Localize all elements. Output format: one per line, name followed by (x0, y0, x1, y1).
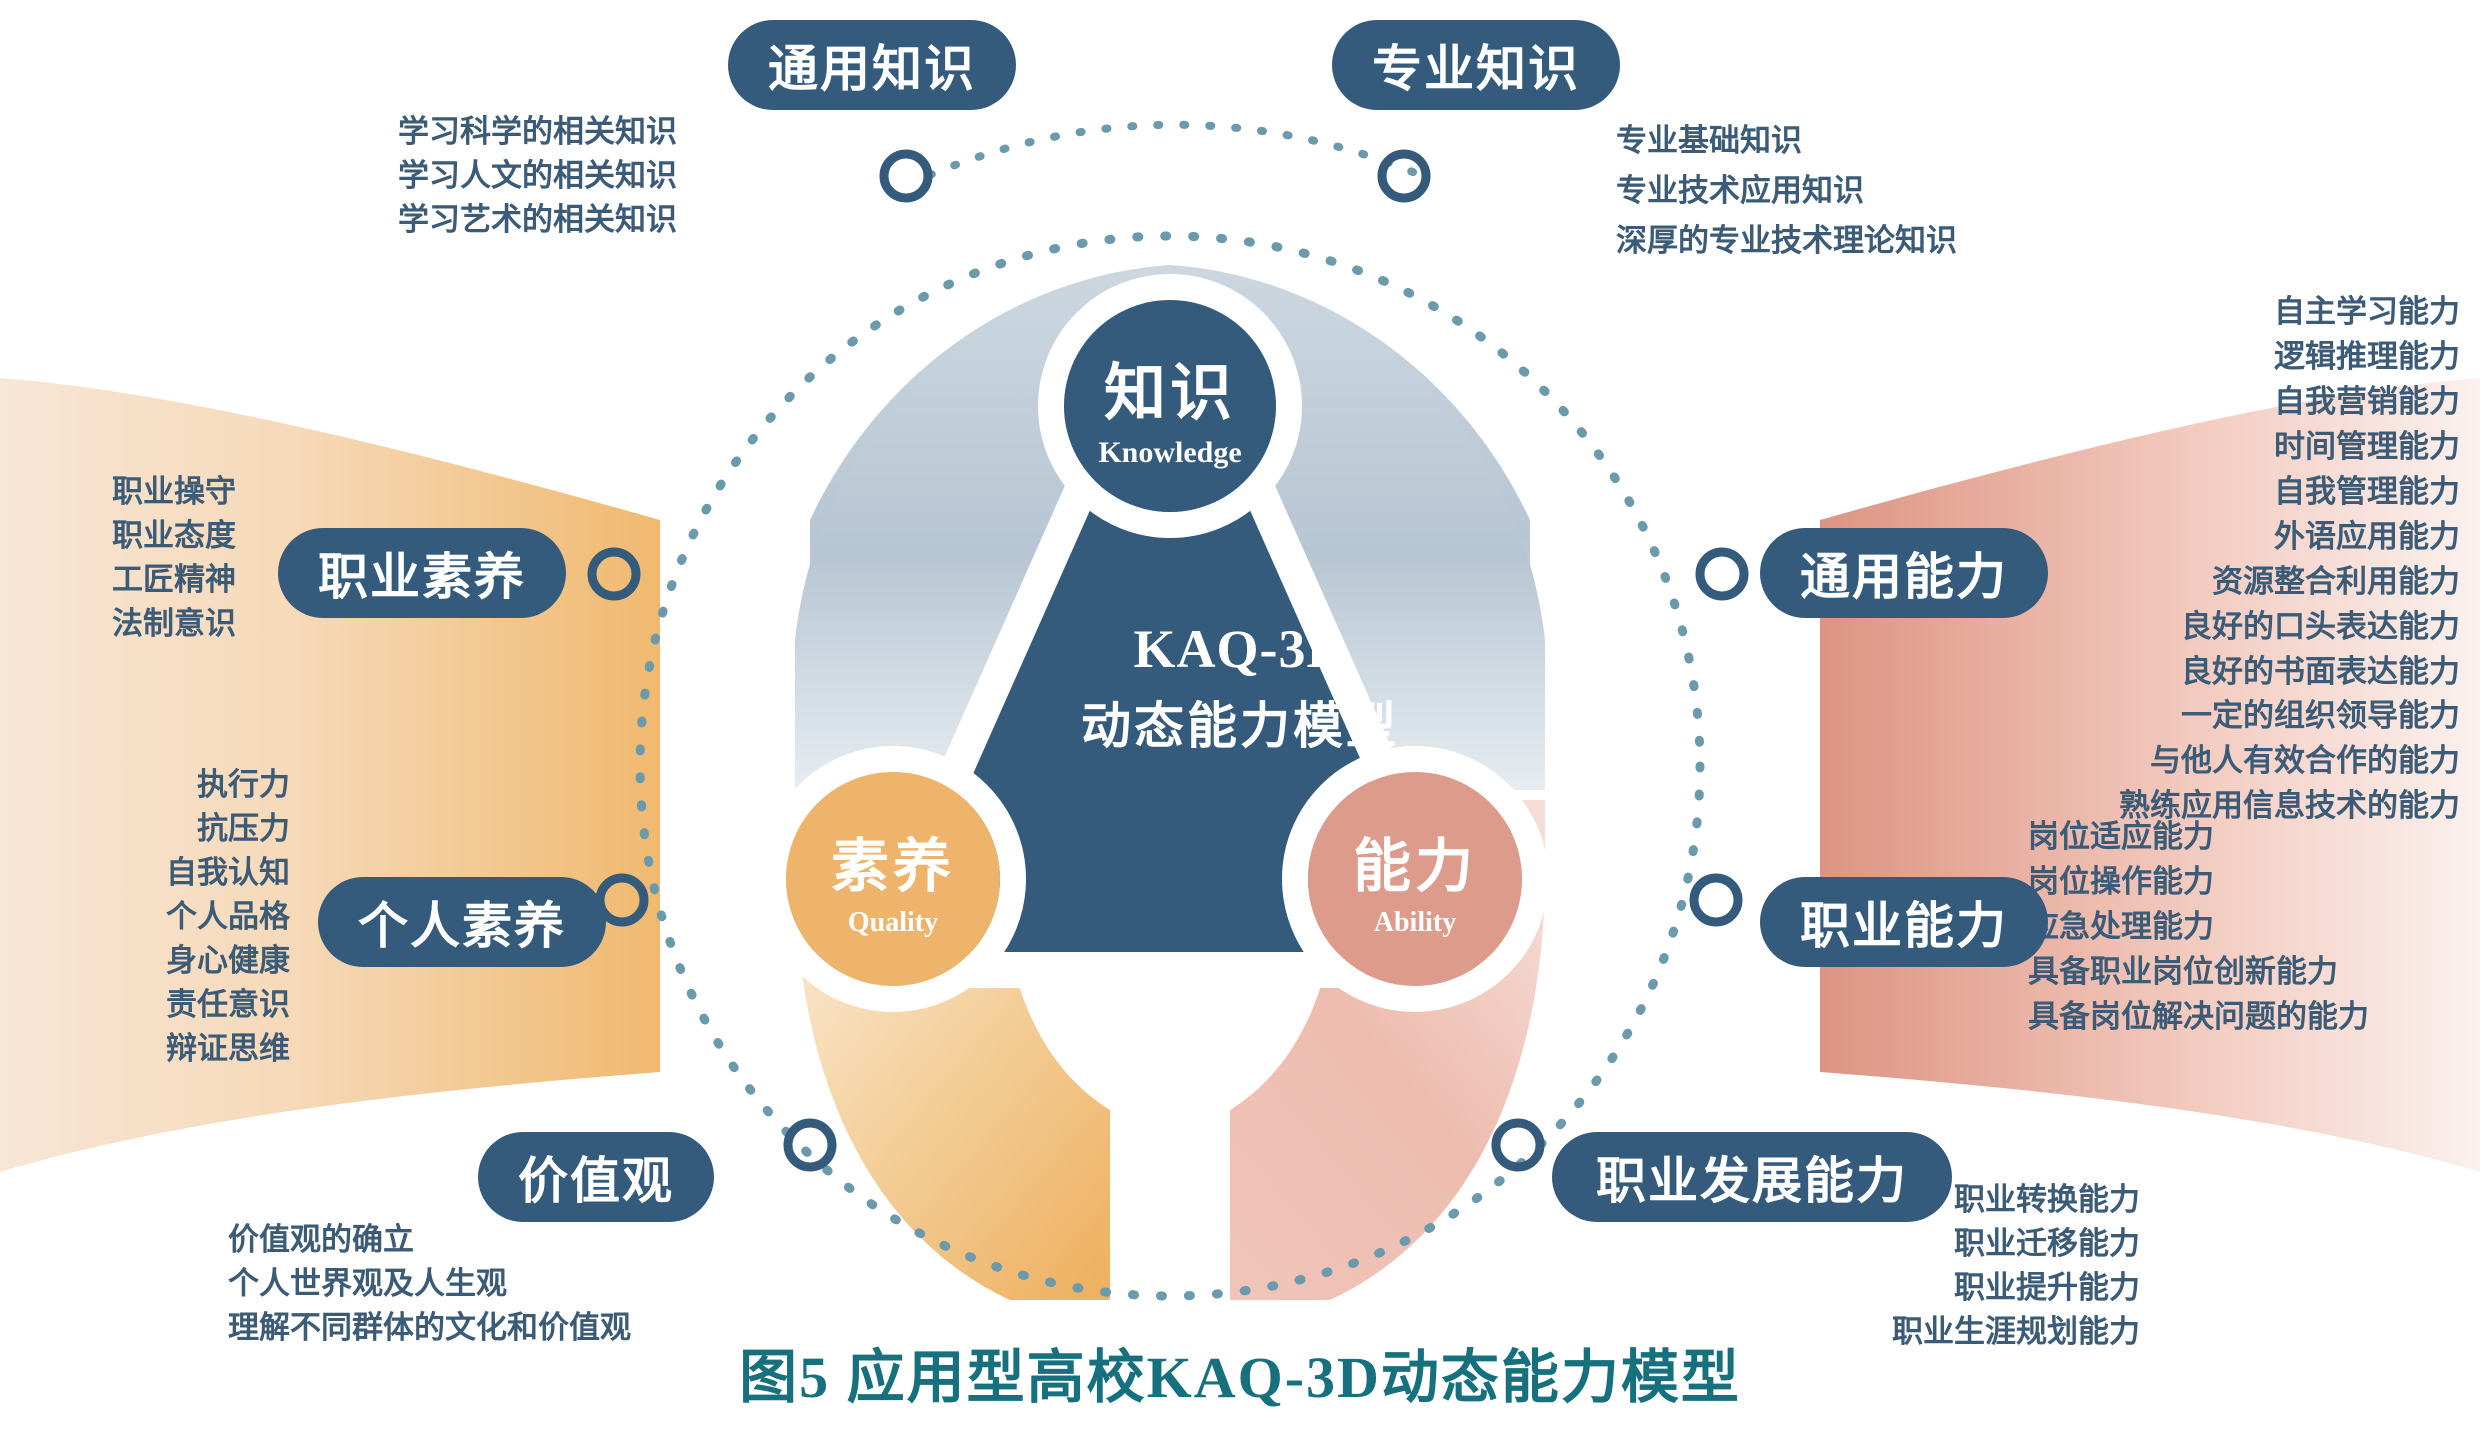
list-item: 责任意识 (0, 983, 290, 1027)
list-item: 专业技术应用知识 (1616, 166, 1957, 216)
list-personal-quality: 执行力 抗压力 自我认知 个人品格 身心健康 责任意识 辩证思维 (0, 763, 290, 1071)
list-item: 一定的组织领导能力 (1870, 694, 2460, 739)
label-vocational-ability[interactable]: 职业能力 (1760, 877, 2048, 967)
list-item: 学习人文的相关知识 (398, 154, 677, 198)
list-item: 自我营销能力 (1870, 380, 2460, 425)
list-item: 身心健康 (0, 939, 290, 983)
list-item: 逻辑推理能力 (1870, 335, 2460, 380)
list-item: 自主学习能力 (1870, 290, 2460, 335)
connector-dots (930, 125, 1420, 175)
list-item: 与他人有效合作的能力 (1870, 739, 2460, 784)
figure-caption: 图5 应用型高校KAQ-3D动态能力模型 (0, 1330, 2480, 1414)
list-item: 学习艺术的相关知识 (398, 198, 677, 242)
list-item: 抗压力 (0, 807, 290, 851)
list-item: 应急处理能力 (2028, 905, 2369, 950)
node-quality-zh: 素养 (831, 819, 955, 903)
list-item: 个人品格 (0, 895, 290, 939)
label-professional-quality[interactable]: 职业素养 (278, 528, 566, 618)
list-item: 法制意识 (112, 602, 236, 646)
label-general-knowledge[interactable]: 通用知识 (728, 20, 1016, 110)
list-item: 工匠精神 (112, 558, 236, 602)
node-knowledge[interactable]: 知识 Knowledge (1064, 300, 1276, 512)
list-item: 深厚的专业技术理论知识 (1616, 216, 1957, 266)
list-item: 职业操守 (112, 470, 236, 514)
list-item: 岗位操作能力 (2028, 860, 2369, 905)
list-item: 辩证思维 (0, 1027, 290, 1071)
list-item: 执行力 (0, 763, 290, 807)
list-item: 自我认知 (0, 851, 290, 895)
node-quality[interactable]: 素养 Quality (786, 772, 1000, 986)
list-item: 职业提升能力 (1840, 1266, 2140, 1310)
list-item: 具备岗位解决问题的能力 (2028, 995, 2369, 1040)
list-professional-quality: 职业操守 职业态度 工匠精神 法制意识 (112, 470, 236, 646)
list-item: 个人世界观及人生观 (228, 1262, 631, 1306)
list-vocational-ability: 岗位适应能力 岗位操作能力 应急处理能力 具备职业岗位创新能力 具备岗位解决问题… (2028, 815, 2369, 1040)
list-item: 时间管理能力 (1870, 425, 2460, 470)
label-personal-quality[interactable]: 个人素养 (318, 877, 606, 967)
label-career-development-ability[interactable]: 职业发展能力 (1552, 1132, 1952, 1222)
list-item: 职业态度 (112, 514, 236, 558)
list-item: 价值观的确立 (228, 1218, 631, 1262)
list-general-knowledge: 学习科学的相关知识 学习人文的相关知识 学习艺术的相关知识 (398, 110, 677, 242)
node-knowledge-en: Knowledge (1098, 436, 1241, 470)
node-knowledge-zh: 知识 (1104, 342, 1236, 432)
label-professional-knowledge[interactable]: 专业知识 (1332, 20, 1620, 110)
list-item: 具备职业岗位创新能力 (2028, 950, 2369, 995)
list-item: 学习科学的相关知识 (398, 110, 677, 154)
node-ability[interactable]: 能力 Ability (1308, 772, 1522, 986)
list-item: 自我管理能力 (1870, 470, 2460, 515)
petal-white-gap (1160, 740, 1180, 1320)
node-ability-zh: 能力 (1353, 819, 1477, 903)
label-general-ability[interactable]: 通用能力 (1760, 528, 2048, 618)
label-values[interactable]: 价值观 (478, 1132, 714, 1222)
list-item: 专业基础知识 (1616, 116, 1957, 166)
list-item: 岗位适应能力 (2028, 815, 2369, 860)
figure-canvas: 知识 Knowledge 素养 Quality 能力 Ability KAQ-3… (0, 0, 2480, 1434)
list-item: 良好的书面表达能力 (1870, 650, 2460, 695)
node-quality-en: Quality (848, 907, 938, 939)
list-professional-knowledge: 专业基础知识 专业技术应用知识 深厚的专业技术理论知识 (1616, 116, 1957, 267)
list-item: 职业迁移能力 (1840, 1222, 2140, 1266)
node-ability-en: Ability (1374, 907, 1456, 939)
